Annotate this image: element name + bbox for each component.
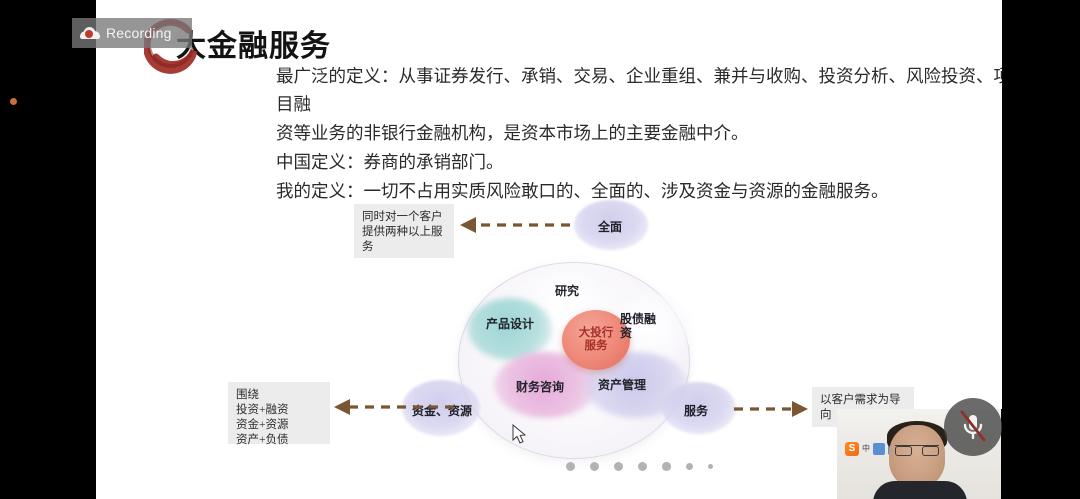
page-indicator-dots[interactable] [566,462,713,471]
slide-body-text: 最广泛的定义：从事证券发行、承销、交易、企业重组、兼并与收购、投资分析、风险投资… [276,62,1002,206]
page-dot[interactable] [686,463,693,470]
avatar-glasses [895,445,939,455]
bubble-label-comprehensive: 全面 [598,218,622,235]
arrow-from-capital-resources [330,396,460,418]
paragraph-1: 最广泛的定义：从事证券发行、承销、交易、企业重组、兼并与收购、投资分析、风险投资… [276,62,1002,118]
label-research: 研究 [544,284,590,298]
paragraph-3: 中国定义：券商的承销部门。 [276,148,1002,176]
ime-language-label: 中 [862,443,870,454]
stray-orange-dot [10,98,17,105]
label-asset-management: 资产管理 [590,378,654,392]
page-dot[interactable] [638,462,647,471]
microphone-muted-icon [956,410,990,444]
page-dot[interactable] [590,462,599,471]
avatar-torso [873,481,967,499]
page-dot[interactable] [708,464,713,469]
label-equity-debt-financing: 股债融 资 [620,312,660,340]
center-label-line2: 服务 [585,340,608,353]
meeting-screen: 最广泛的定义：从事证券发行、承销、交易、企业重组、兼并与收购、投资分析、风险投资… [0,0,1080,499]
label-product-design: 产品设计 [478,317,542,331]
arrow-from-comprehensive [456,214,576,236]
caption-around-capital: 围绕 投资+融资 资金+资源 资产+负债 [228,382,330,444]
ime-calendar-icon [873,443,885,455]
recording-label: Recording [106,25,172,41]
slide-title: 大金融服务 [176,21,331,65]
avatar-face [889,425,945,487]
cloud-record-icon [80,27,100,39]
page-dot[interactable] [662,462,671,471]
caption-multi-service: 同时对一个客户 提供两种以上服 务 [354,204,454,258]
label-financial-advisory: 财务咨询 [508,380,572,394]
bubble-label-service: 服务 [684,402,708,419]
sogou-logo-icon: S [845,442,859,456]
page-dot[interactable] [614,462,623,471]
video-letterbox [1001,409,1080,499]
recording-badge: Recording [72,18,192,48]
arrow-to-customer-oriented [730,398,812,420]
page-dot[interactable] [566,462,575,471]
paragraph-2: 资等业务的非银行金融机构，是资本市场上的主要金融中介。 [276,119,1002,147]
center-label-line1: 大投行 [579,327,614,340]
mute-toggle-button[interactable] [944,398,1002,456]
